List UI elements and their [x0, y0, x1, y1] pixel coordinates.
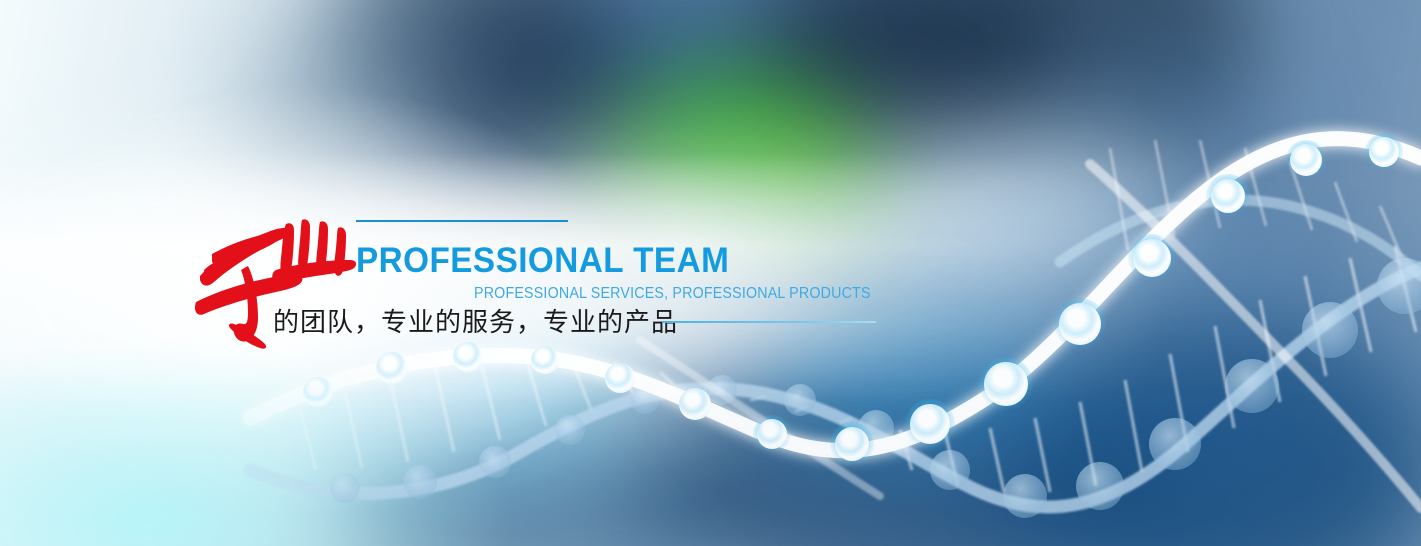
banner-copy: PROFESSIONAL TEAM PROFESSIONAL SERVICES,… [0, 0, 1421, 546]
divider-line-bottom [662, 321, 876, 323]
banner-subtitle-en: PROFESSIONAL SERVICES, PROFESSIONAL PROD… [474, 286, 871, 302]
banner-subtitle-cn: 的团队，专业的服务，专业的产品 [273, 306, 678, 339]
banner-title-en: PROFESSIONAL TEAM [356, 243, 729, 278]
hero-banner: PROFESSIONAL TEAM PROFESSIONAL SERVICES,… [0, 0, 1421, 546]
divider-line-top [356, 220, 568, 222]
